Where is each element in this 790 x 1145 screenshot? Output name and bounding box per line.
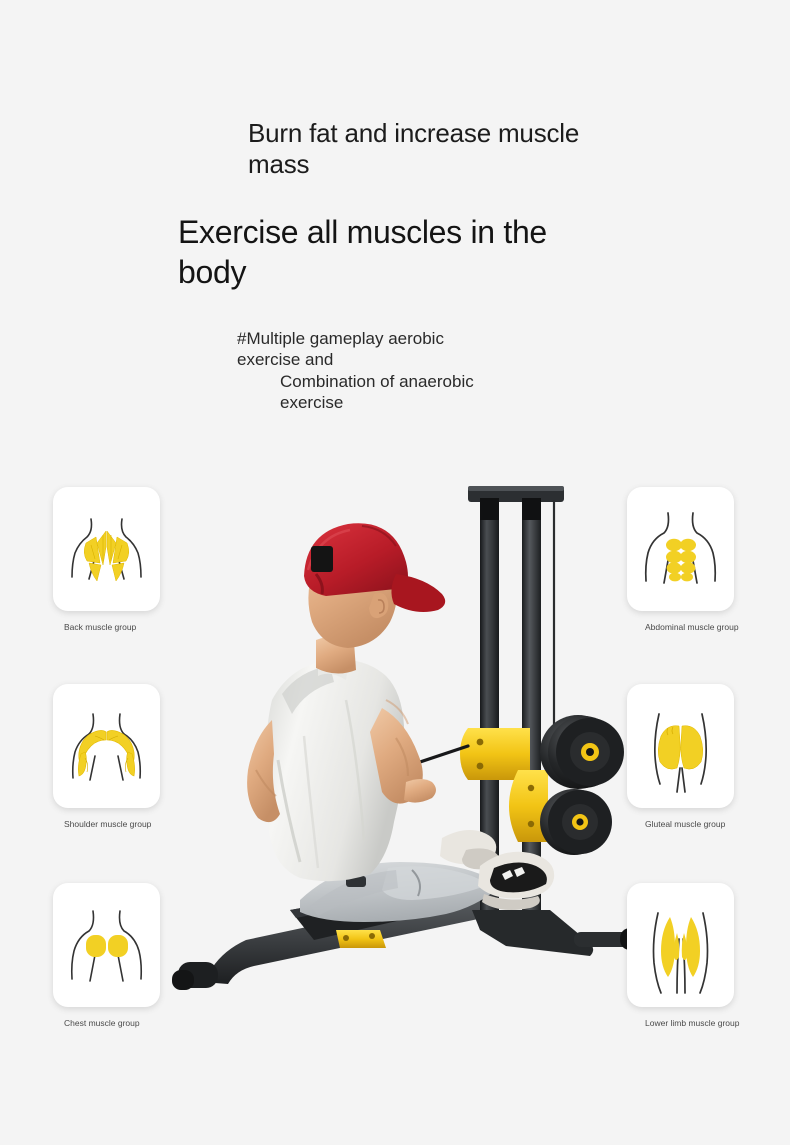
muscle-card-shoulder[interactable] <box>53 684 160 808</box>
muscle-card-back[interactable] <box>53 487 160 611</box>
muscle-card-abdominal[interactable] <box>627 487 734 611</box>
muscle-card-lowerlimb[interactable] <box>627 883 734 1007</box>
weight-plate-stack <box>540 715 624 855</box>
chest-muscle-icon <box>53 883 160 1007</box>
muscle-card-label-shoulder: Shoulder muscle group <box>64 819 184 830</box>
product-marketing-page: Burn fat and increase muscle mass Exerci… <box>0 0 790 1145</box>
page-title: Exercise all muscles in the body <box>178 212 608 292</box>
subheading-line-2: Combination of anaerobic exercise <box>280 371 530 413</box>
rowing-machine-photo <box>150 470 650 1030</box>
muscle-card-label-back: Back muscle group <box>64 622 184 633</box>
back-muscle-icon <box>53 487 160 611</box>
eyebrow-text: Burn fat and increase muscle mass <box>248 118 588 180</box>
muscle-card-label-chest: Chest muscle group <box>64 1018 184 1029</box>
muscle-card-label-lowerlimb: Lower limb muscle group <box>645 1018 765 1029</box>
muscle-card-label-abdominal: Abdominal muscle group <box>645 622 765 633</box>
muscle-card-label-gluteal: Gluteal muscle group <box>645 819 765 830</box>
shoulder-muscle-icon <box>53 684 160 808</box>
abdominal-muscle-icon <box>627 487 734 611</box>
gluteal-muscle-icon <box>627 684 734 808</box>
subheading-line-1: #Multiple gameplay aerobic exercise and <box>237 328 507 370</box>
lower-limb-muscle-icon <box>627 883 734 1007</box>
muscle-card-chest[interactable] <box>53 883 160 1007</box>
muscle-card-gluteal[interactable] <box>627 684 734 808</box>
